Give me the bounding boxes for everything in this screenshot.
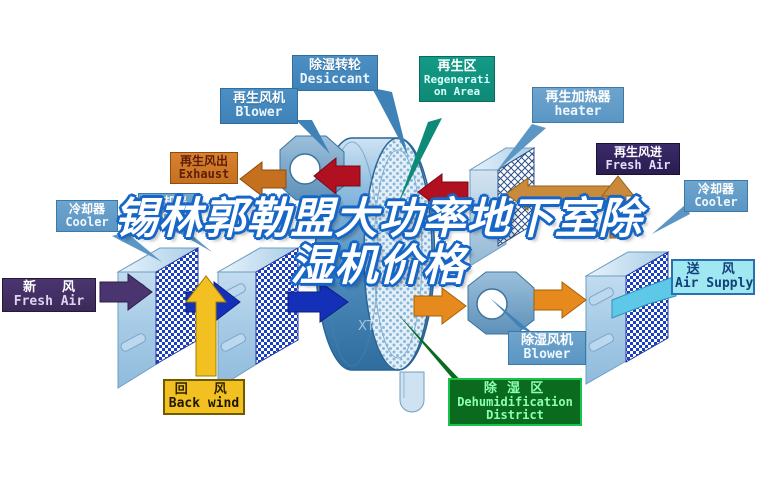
label-fresh-air-inlet[interactable]: 新 风 Fresh Air [2,278,96,312]
label-cooler-left-cn: 冷却器 [59,203,115,216]
label-air-supply[interactable]: 送 风 Air Supply [671,259,755,295]
label-regen-air-inlet-en: Fresh Air [599,159,677,172]
label-cooler-mid-cn: 冷却器 [141,196,197,209]
label-regen-blower-cn: 再生风机 [223,92,295,106]
label-regeneration-area-cn: 再生区 [422,60,492,74]
label-regen-air-exhaust-en: Exhaust [173,168,235,181]
label-fresh-air-inlet-cn: 新 风 [5,281,93,295]
leader-cooler-left [112,232,162,262]
arrow-heater-in [506,178,618,210]
label-cooler-right[interactable]: 冷却器 Cooler [684,180,748,212]
label-regeneration-area-en2: on Area [422,86,492,98]
label-desiccant-rotor[interactable]: 除湿转轮 Desiccant [292,55,378,91]
label-cooler-mid-en: Cooler [141,209,197,222]
diagram-artwork: XT [0,0,757,488]
label-regen-heater[interactable]: 再生加热器 heater [532,87,624,123]
label-cooler-left-en: Cooler [59,216,115,229]
label-cooler-right-en: Cooler [687,196,745,209]
label-fresh-air-inlet-en: Fresh Air [5,295,93,309]
label-desiccant-rotor-en: Desiccant [295,73,375,87]
cooling-coil-1 [118,248,198,388]
label-regen-air-exhaust[interactable]: 再生风出 Exhaust [170,152,238,184]
label-dehumid-blower-en: Blower [511,348,583,362]
label-cooler-right-cn: 冷却器 [687,183,745,196]
arrow-blower-out [534,282,586,318]
label-air-supply-cn: 送 风 [675,263,751,277]
label-regen-heater-cn: 再生加热器 [535,91,621,105]
label-desiccant-rotor-cn: 除湿转轮 [295,59,375,73]
label-back-wind-en: Back wind [167,397,241,411]
label-regen-heater-en: heater [535,105,621,119]
label-dehumid-blower-cn: 除湿风机 [511,334,583,348]
label-dehumidification[interactable]: 除 湿 区 Dehumidification District [448,378,582,426]
drain-pan [400,372,424,412]
arrow-regen-fresh-up [602,176,634,238]
label-regen-air-exhaust-cn: 再生风出 [173,155,235,168]
label-regen-air-inlet[interactable]: 再生风进 Fresh Air [596,143,680,175]
label-regen-blower[interactable]: 再生风机 Blower [220,88,298,124]
label-back-wind[interactable]: 回 风 Back wind [163,379,245,415]
label-regen-air-inlet-cn: 再生风进 [599,146,677,159]
dehumidifier-diagram: XT [0,0,757,488]
cooling-coil-3 [586,252,668,384]
watermark: XT [358,319,375,334]
label-regen-blower-en: Blower [223,106,295,120]
label-cooler-mid[interactable]: 冷却器 Cooler [138,193,200,225]
arrow-regen-exhaust [240,162,286,196]
label-cooler-left[interactable]: 冷却器 Cooler [56,200,118,232]
cooling-coil-2 [218,248,298,388]
label-air-supply-en: Air Supply [675,277,751,291]
label-dehumidification-cn: 除 湿 区 [452,382,578,396]
label-dehumidification-en2: District [452,409,578,422]
label-dehumid-blower[interactable]: 除湿风机 Blower [508,331,586,365]
label-back-wind-cn: 回 风 [167,383,241,397]
blower-dehumid [468,272,534,334]
label-regeneration-area[interactable]: 再生区 Regenerati on Area [419,56,495,102]
